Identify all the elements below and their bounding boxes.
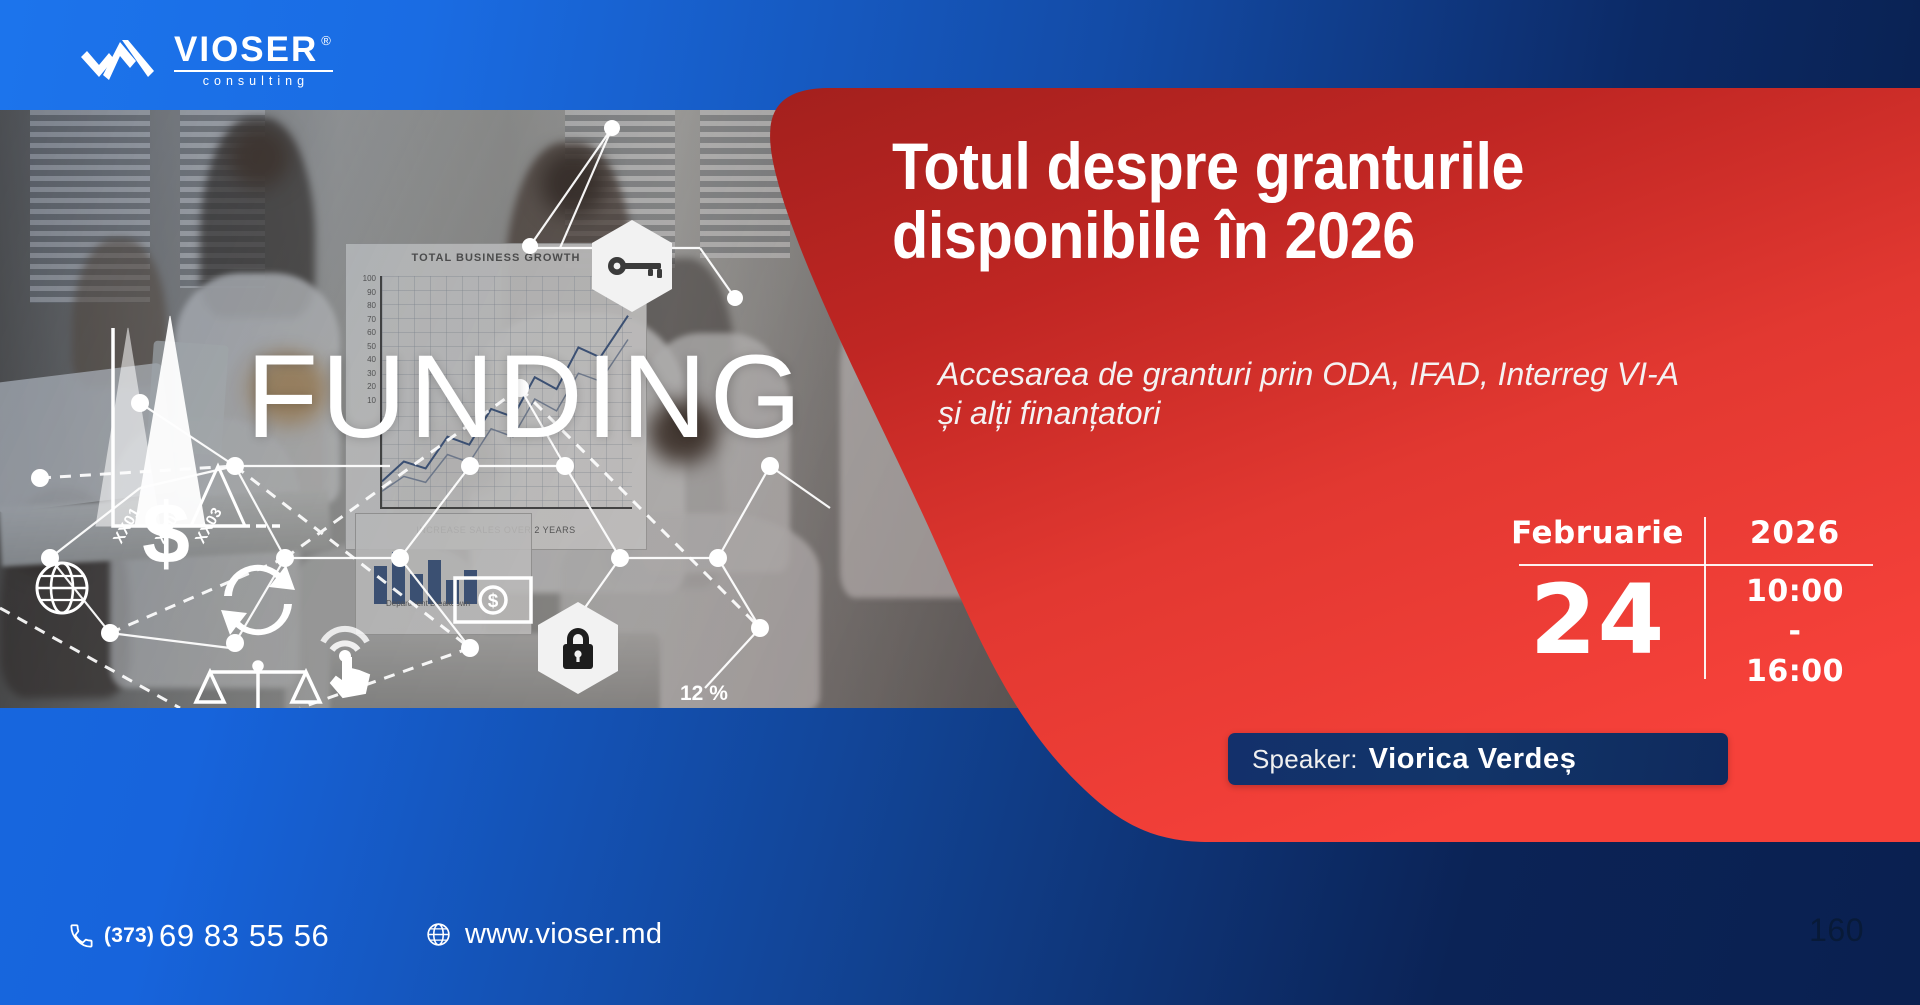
event-day: 24 (1495, 569, 1700, 673)
phone-icon (68, 923, 95, 950)
event-time-start: 10:00 (1717, 572, 1873, 612)
phone-prefix: (373) (104, 924, 154, 948)
page-number: 160 (1809, 912, 1864, 949)
event-time-end: 16:00 (1717, 652, 1873, 692)
slide-title-line-2: disponibile în 2026 (892, 201, 1702, 270)
event-time-dash: - (1717, 612, 1873, 652)
event-year: 2026 (1717, 515, 1873, 551)
presentation-slide: TOTAL BUSINESS GROWTH 100 90 80 70 60 50… (0, 0, 1920, 1005)
footer-website[interactable]: www.vioser.md (425, 918, 662, 951)
slide-title-line-1: Totul despre granturile (892, 132, 1702, 201)
website-url: www.vioser.md (465, 918, 662, 951)
red-panel-content: Totul despre granturile disponibile în 2… (0, 0, 1920, 1005)
registered-mark: ® (321, 34, 333, 47)
event-date-block: Februarie 2026 24 10:00 - 16:00 (1495, 515, 1873, 680)
event-month: Februarie (1495, 515, 1700, 551)
logo-name-row: VIOSER ® (174, 32, 333, 67)
speaker-label: Speaker: (1252, 744, 1358, 775)
chevron-check-logo-icon (78, 37, 164, 83)
logo-tagline: consulting (198, 75, 309, 88)
event-time: 10:00 - 16:00 (1717, 572, 1873, 692)
slide-title: Totul despre granturile disponibile în 2… (892, 132, 1702, 269)
logo-name: VIOSER (174, 32, 318, 67)
globe-icon (425, 921, 452, 948)
speaker-name: Viorica Verdeș (1369, 743, 1577, 776)
date-vertical-rule (1704, 517, 1706, 679)
brand-logo[interactable]: VIOSER ® consulting (78, 34, 333, 86)
slide-subtitle: Accesarea de granturi prin ODA, IFAD, In… (938, 355, 1898, 433)
phone-number: 69 83 55 56 (159, 918, 329, 954)
slide-subtitle-line-1: Accesarea de granturi prin ODA, IFAD, In… (938, 355, 1898, 394)
footer-phone[interactable]: (373) 69 83 55 56 (68, 918, 329, 954)
speaker-badge: Speaker: Viorica Verdeș (1228, 733, 1728, 785)
logo-divider (174, 70, 333, 72)
footer-bar: (373) 69 83 55 56 www.vioser.md 160 (0, 880, 1920, 1005)
logo-wordmark: VIOSER ® consulting (174, 32, 333, 88)
slide-subtitle-line-2: și alți finanțatori (938, 394, 1898, 433)
